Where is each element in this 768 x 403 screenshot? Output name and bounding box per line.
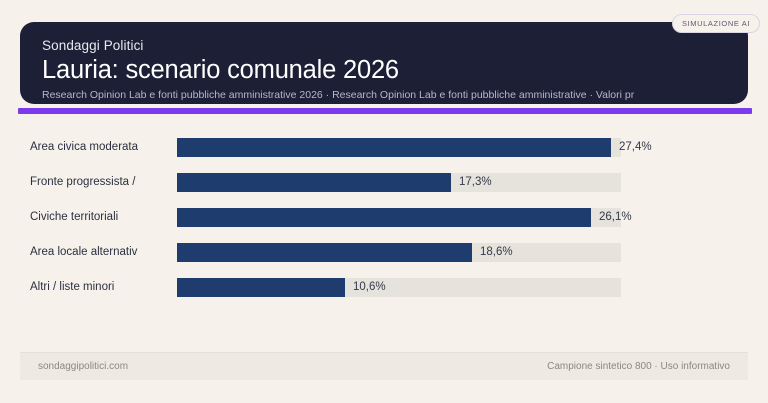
footer-note-label: Campione sintetico 800 · Uso informativo (547, 353, 730, 380)
chart-row: Altri / liste minori10,6% (0, 270, 768, 305)
chart-row-label: Altri / liste minori (0, 270, 164, 305)
footer-bar: sondaggipolitici.com Campione sintetico … (20, 352, 748, 380)
chart-value-label: 10,6% (353, 278, 386, 297)
chart-row-label: Area locale alternativ (0, 235, 164, 270)
bar-chart: Area civica moderata27,4%Fronte progress… (0, 130, 768, 305)
chart-bar-track (177, 173, 621, 192)
chart-value-label: 18,6% (480, 243, 513, 262)
chart-bar-fill (177, 208, 591, 227)
chart-value-label: 26,1% (599, 208, 632, 227)
chart-bar-fill (177, 278, 345, 297)
status-badge: SIMULAZIONE AI (672, 14, 760, 33)
chart-bar-track (177, 208, 621, 227)
chart-row: Civiche territoriali26,1% (0, 200, 768, 235)
chart-bar-fill (177, 243, 472, 262)
chart-value-label: 17,3% (459, 173, 492, 192)
header-subtitle: Research Opinion Lab e fonti pubbliche a… (42, 89, 732, 102)
chart-value-label: 27,4% (619, 138, 652, 157)
header-card: Sondaggi Politici Lauria: scenario comun… (20, 22, 748, 104)
chart-bar-track (177, 243, 621, 262)
chart-bar-track (177, 278, 621, 297)
footer-site-label: sondaggipolitici.com (38, 353, 128, 380)
chart-bar-track (177, 138, 621, 157)
brand-kicker: Sondaggi Politici (42, 38, 726, 54)
chart-bar-fill (177, 138, 611, 157)
chart-row: Area civica moderata27,4% (0, 130, 768, 165)
poll-infographic-poster: Sondaggi Politici Lauria: scenario comun… (0, 0, 768, 403)
chart-row: Area locale alternativ18,6% (0, 235, 768, 270)
chart-row-label: Fronte progressista / (0, 165, 164, 200)
page-title: Lauria: scenario comunale 2026 (42, 55, 726, 86)
chart-row-label: Civiche territoriali (0, 200, 164, 235)
accent-divider (18, 108, 752, 114)
header-section: Sondaggi Politici Lauria: scenario comun… (20, 22, 748, 104)
chart-row-label: Area civica moderata (0, 130, 164, 165)
chart-row: Fronte progressista /17,3% (0, 165, 768, 200)
chart-bar-fill (177, 173, 451, 192)
